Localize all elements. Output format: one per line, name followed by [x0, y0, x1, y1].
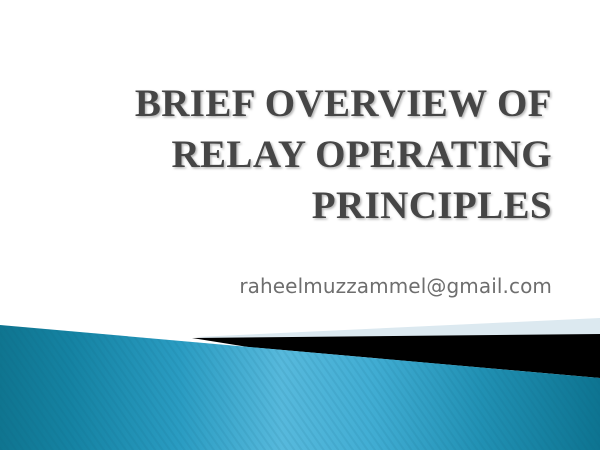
presentation-title-slide: BRIEF OVERVIEW OF RELAY OPERATING PRINCI… — [0, 0, 600, 450]
diagonal-texture — [0, 310, 600, 450]
pale-blue-band-shape — [196, 318, 600, 344]
black-wedge-shape — [192, 334, 600, 378]
teal-gradient-wedge-shape — [0, 325, 600, 450]
title-text-block: BRIEF OVERVIEW OF RELAY OPERATING PRINCI… — [48, 78, 552, 299]
slide-subtitle: raheelmuzzammel@gmail.com — [48, 273, 552, 299]
slide-title: BRIEF OVERVIEW OF RELAY OPERATING PRINCI… — [48, 78, 552, 231]
